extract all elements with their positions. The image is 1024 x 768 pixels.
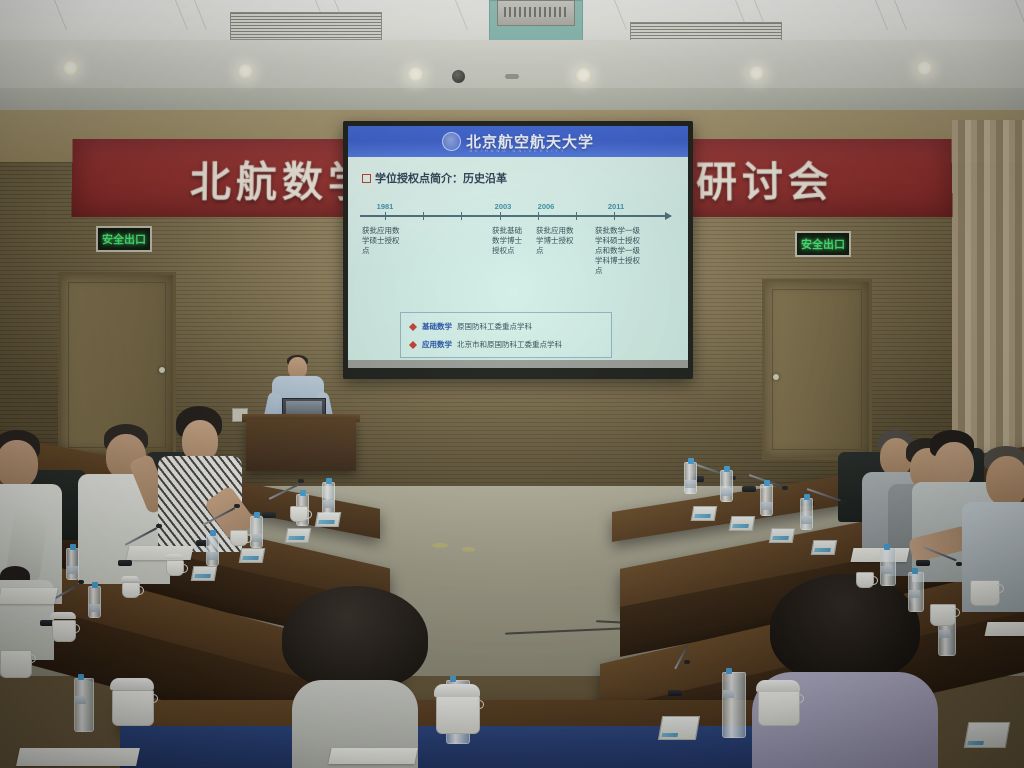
microphone-base: [668, 690, 682, 696]
teacup: [290, 506, 308, 522]
name-placard: [315, 512, 342, 527]
name-placard: [769, 528, 796, 543]
key-disciplines-box: 基础数学 原国防科工委重点学科 应用数学 北京市和原国防科工委重点学科: [400, 312, 612, 358]
diamond-bullet-icon: [413, 341, 421, 349]
teacup-lid: [110, 678, 154, 690]
foreground-head-right: [770, 574, 920, 682]
name-placard: [691, 506, 718, 521]
microphone-head-icon: [234, 504, 240, 508]
key-discipline-row: 基础数学 原国防科工委重点学科: [409, 321, 532, 332]
attendee-head: [0, 440, 38, 488]
screen-bottom-strip: [348, 360, 688, 368]
microphone-head-icon: [684, 660, 690, 664]
teacup-lid: [121, 576, 139, 581]
door-knob-icon: [773, 374, 779, 380]
ceiling-panel-seam: [54, 0, 188, 30]
slide-title-row: 学位授权点简介：历史沿革: [362, 170, 507, 186]
name-placard: [811, 540, 838, 555]
key-discipline-value: 北京市和原国防科工委重点学科: [457, 339, 562, 350]
document-paper: [127, 546, 194, 560]
water-bottle: [720, 470, 733, 502]
slide-surface: 北京航空航天大学 BEIHANG UNIVERSITY 学位授权点简介：历史沿革…: [348, 126, 688, 368]
water-bottle: [206, 534, 219, 566]
floor-marking: [462, 547, 475, 552]
timeline-note: 获批基础数学博士授权点: [492, 226, 525, 256]
wooden-podium: [246, 419, 356, 471]
microphone-base: [262, 512, 276, 518]
name-placard: [285, 528, 312, 543]
name-placard: [191, 566, 218, 581]
ceiling-camera-icon: [452, 70, 465, 83]
teacup-lid: [50, 612, 76, 619]
microphone-base: [742, 486, 756, 492]
door-knob-icon: [159, 367, 165, 373]
water-bottle: [74, 678, 94, 732]
water-bottle: [722, 672, 746, 738]
timeline-year: 2011: [608, 202, 624, 211]
downlight: [575, 68, 592, 83]
teacup: [758, 690, 800, 726]
ceiling-projector: [497, 0, 575, 26]
ceiling-panel-seam: [894, 0, 1024, 30]
water-bottle: [322, 482, 335, 514]
downlight: [62, 61, 79, 76]
key-discipline-value: 原国防科工委重点学科: [457, 321, 532, 332]
university-pinyin: BEIHANG UNIVERSITY: [348, 148, 688, 153]
teacup: [970, 580, 1000, 606]
downlight: [407, 67, 424, 82]
document-paper: [985, 622, 1024, 636]
microphone-head-icon: [840, 500, 846, 504]
downlight: [916, 61, 933, 76]
timeline-note: 获批数学一级学科硕士授权点和数学一级学科博士授权点: [595, 226, 643, 276]
timeline-tick: [500, 212, 501, 220]
teacup: [0, 650, 32, 678]
timeline: 1981 2003 2006 2011: [360, 206, 676, 220]
slide-header: 北京航空航天大学 BEIHANG UNIVERSITY: [348, 126, 688, 157]
exit-sign-label: 安全出口: [801, 236, 845, 252]
timeline-arrow-icon: [665, 212, 672, 220]
attendee-head: [986, 456, 1024, 506]
document-paper: [16, 748, 140, 766]
name-placard: [964, 722, 1011, 748]
teacup: [166, 560, 184, 576]
teacup-lid: [434, 684, 480, 697]
exit-sign-label: 安全出口: [102, 231, 146, 247]
projection-screen: 北京航空航天大学 BEIHANG UNIVERSITY 学位授权点简介：历史沿革…: [343, 121, 693, 379]
teacup-lid: [165, 554, 183, 559]
foreground-head-left: [282, 586, 428, 690]
timeline-tick: [538, 212, 539, 220]
water-bottle: [800, 498, 813, 530]
water-bottle: [250, 516, 263, 548]
teacup: [52, 620, 76, 642]
microphone-head-icon: [156, 524, 162, 528]
key-discipline-label: 基础数学: [422, 321, 452, 332]
exit-sign-left: 安全出口: [96, 226, 152, 252]
diamond-bullet-icon: [413, 323, 421, 331]
timeline-year: 2006: [538, 202, 555, 211]
microphone-head-icon: [78, 580, 84, 584]
microphone-head-icon: [782, 486, 788, 490]
water-bottle: [760, 484, 773, 516]
timeline-tick: [385, 212, 386, 220]
teacup: [930, 604, 956, 626]
water-bottle: [908, 572, 924, 612]
timeline-tick: [423, 212, 424, 220]
water-bottle: [66, 548, 79, 580]
timeline-year: 2003: [495, 202, 512, 211]
key-discipline-row: 应用数学 北京市和原国防科工委重点学科: [409, 339, 562, 350]
timeline-note: 获批应用数学硕士授权点: [362, 226, 406, 256]
downlight: [237, 64, 254, 79]
ceiling-vent-left: [230, 12, 382, 40]
teacup: [122, 582, 140, 598]
document-paper: [328, 748, 417, 764]
microphone-base: [916, 560, 930, 566]
conference-room-photo: 北航数学、统计学科发展研讨会 安全出口 安全出口 北京航空航天大学 BEIHAN…: [0, 0, 1024, 768]
teacup: [112, 690, 154, 726]
microphone-base: [118, 560, 132, 566]
timeline-tick: [461, 212, 462, 220]
timeline-tick: [614, 212, 615, 220]
teacup: [856, 572, 874, 588]
name-placard: [239, 548, 266, 563]
ceiling-sensor-icon: [505, 74, 519, 79]
document-paper: [0, 588, 58, 604]
timeline-axis: [360, 215, 666, 217]
timeline-year: 1981: [377, 202, 394, 211]
water-bottle: [88, 586, 101, 618]
downlight: [748, 66, 765, 81]
door-right[interactable]: [762, 279, 872, 460]
square-bullet-icon: [362, 174, 371, 183]
water-bottle: [880, 548, 896, 586]
name-placard: [658, 716, 700, 740]
teacup-lid: [756, 680, 800, 692]
exit-sign-right: 安全出口: [795, 231, 851, 257]
microphone-head-icon: [956, 562, 962, 566]
teacup: [230, 530, 248, 546]
key-discipline-label: 应用数学: [422, 339, 452, 350]
name-placard: [729, 516, 756, 531]
timeline-note: 获批应用数学博士授权点: [536, 226, 577, 256]
microphone-head-icon: [298, 479, 304, 483]
water-bottle: [684, 462, 697, 494]
timeline-tick: [576, 212, 577, 220]
teacup: [436, 696, 480, 734]
slide-title: 学位授权点简介：历史沿革: [375, 170, 507, 186]
floor-marking: [432, 543, 448, 548]
